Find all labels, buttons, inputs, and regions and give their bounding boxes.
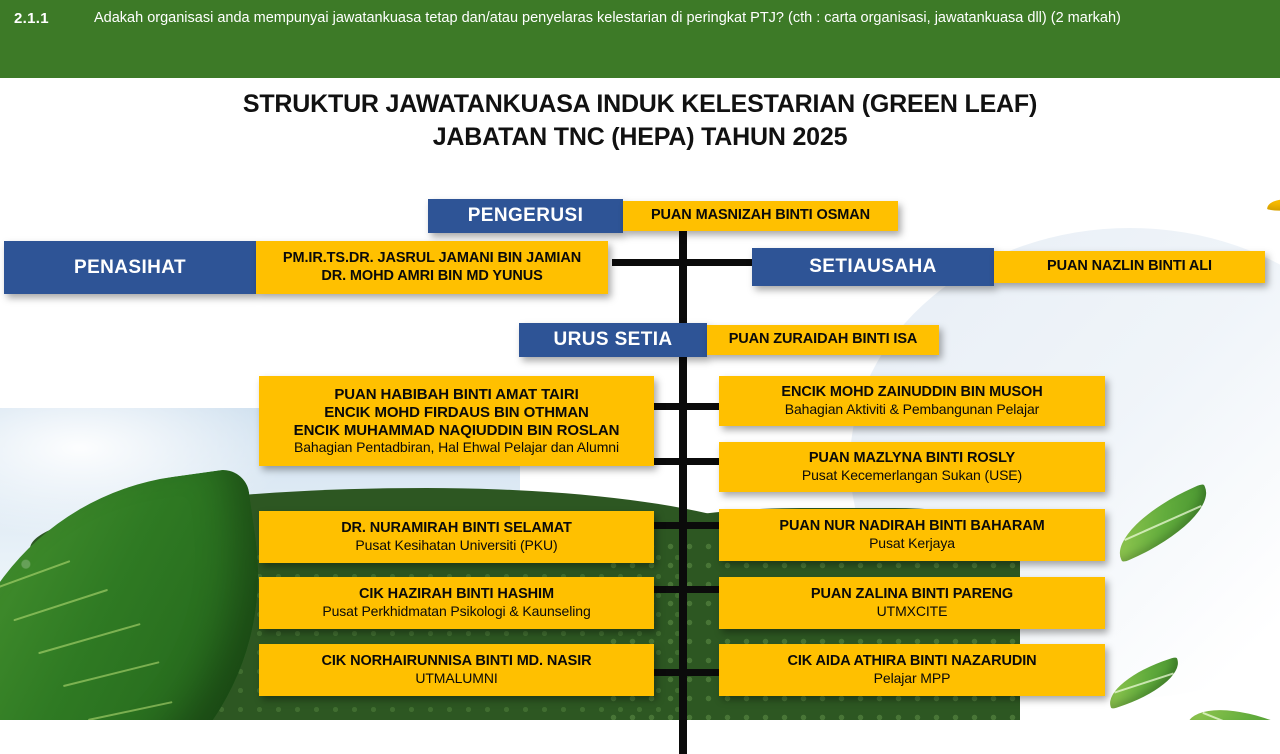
member-box: PUAN ZALINA BINTI PARENG UTMXCITE (719, 577, 1105, 629)
member-name: ENCIK MOHD ZAINUDDIN BIN MUSOH (781, 384, 1042, 401)
node-setiausaha[interactable]: SETIAUSAHA PUAN NAZLIN BINTI ALI (752, 248, 1265, 286)
branch-line-setiausaha (681, 259, 761, 266)
branch-line-penasihat (612, 259, 686, 266)
member-name-3: ENCIK MUHAMMAD NAQIUDDIN BIN ROSLAN (294, 422, 620, 440)
node-urus-setia[interactable]: URUS SETIA PUAN ZURAIDAH BINTI ISA (519, 323, 939, 357)
member-right-2[interactable]: PUAN MAZLYNA BINTI ROSLY Pusat Kecemerla… (719, 442, 1105, 492)
member-name: CIK AIDA ATHIRA BINTI NAZARUDIN (787, 653, 1036, 670)
member-name: PUAN ZALINA BINTI PARENG (811, 586, 1013, 603)
member-box: PUAN HABIBAH BINTI AMAT TAIRI ENCIK MOHD… (259, 376, 654, 466)
urus-setia-name-box: PUAN ZURAIDAH BINTI ISA (707, 325, 939, 355)
penasihat-role-label: PENASIHAT (4, 241, 256, 294)
member-right-4[interactable]: PUAN ZALINA BINTI PARENG UTMXCITE (719, 577, 1105, 629)
member-right-5[interactable]: CIK AIDA ATHIRA BINTI NAZARUDIN Pelajar … (719, 644, 1105, 696)
penasihat-name-1: PM.IR.TS.DR. JASRUL JAMANI BIN JAMIAN (283, 250, 581, 267)
member-name-2: ENCIK MOHD FIRDAUS BIN OTHMAN (324, 404, 589, 422)
member-name: CIK HAZIRAH BINTI HASHIM (359, 586, 554, 603)
setiausaha-role-label: SETIAUSAHA (752, 248, 994, 286)
setiausaha-name-box: PUAN NAZLIN BINTI ALI (994, 251, 1265, 283)
member-left-2[interactable]: DR. NURAMIRAH BINTI SELAMAT Pusat Kesiha… (259, 511, 654, 563)
member-dept: Pusat Kesihatan Universiti (PKU) (355, 537, 557, 554)
question-number: 2.1.1 (14, 9, 94, 29)
pengerusi-role-label: PENGERUSI (428, 199, 623, 233)
pengerusi-name: PUAN MASNIZAH BINTI OSMAN (651, 207, 870, 224)
member-name: PUAN NUR NADIRAH BINTI BAHARAM (779, 518, 1044, 535)
member-dept: Pusat Perkhidmatan Psikologi & Kaunselin… (322, 603, 590, 620)
penasihat-name-box: PM.IR.TS.DR. JASRUL JAMANI BIN JAMIAN DR… (256, 241, 608, 294)
member-box: ENCIK MOHD ZAINUDDIN BIN MUSOH Bahagian … (719, 376, 1105, 426)
setiausaha-name: PUAN NAZLIN BINTI ALI (1047, 258, 1212, 275)
member-dept: Bahagian Aktiviti & Pembangunan Pelajar (785, 401, 1040, 418)
member-name: PUAN HABIBAH BINTI AMAT TAIRI (334, 386, 578, 404)
node-penasihat[interactable]: PENASIHAT PM.IR.TS.DR. JASRUL JAMANI BIN… (4, 241, 608, 294)
org-chart: STRUKTUR JAWATANKUASA INDUK KELESTARIAN … (0, 78, 1280, 720)
member-box: PUAN MAZLYNA BINTI ROSLY Pusat Kecemerla… (719, 442, 1105, 492)
member-name: PUAN MAZLYNA BINTI ROSLY (809, 450, 1015, 467)
member-dept: Pelajar MPP (874, 670, 951, 687)
member-dept: UTMALUMNI (415, 670, 497, 687)
member-left-3[interactable]: CIK HAZIRAH BINTI HASHIM Pusat Perkhidma… (259, 577, 654, 629)
member-dept: Pusat Kerjaya (869, 535, 955, 552)
node-pengerusi[interactable]: PENGERUSI PUAN MASNIZAH BINTI OSMAN (428, 199, 898, 233)
member-box: CIK AIDA ATHIRA BINTI NAZARUDIN Pelajar … (719, 644, 1105, 696)
question-banner: 2.1.1 Adakah organisasi anda mempunyai j… (0, 0, 1280, 78)
member-dept: Bahagian Pentadbiran, Hal Ehwal Pelajar … (294, 439, 619, 456)
member-dept: UTMXCITE (877, 603, 948, 620)
member-left-1[interactable]: PUAN HABIBAH BINTI AMAT TAIRI ENCIK MOHD… (259, 376, 654, 466)
chart-title-line1: STRUKTUR JAWATANKUASA INDUK KELESTARIAN … (0, 88, 1280, 121)
member-box: CIK HAZIRAH BINTI HASHIM Pusat Perkhidma… (259, 577, 654, 629)
member-name: CIK NORHAIRUNNISA BINTI MD. NASIR (321, 653, 591, 670)
member-name: DR. NURAMIRAH BINTI SELAMAT (341, 520, 572, 537)
member-box: CIK NORHAIRUNNISA BINTI MD. NASIR UTMALU… (259, 644, 654, 696)
penasihat-name-2: DR. MOHD AMRI BIN MD YUNUS (321, 268, 542, 285)
urus-setia-name: PUAN ZURAIDAH BINTI ISA (729, 331, 918, 348)
member-right-1[interactable]: ENCIK MOHD ZAINUDDIN BIN MUSOH Bahagian … (719, 376, 1105, 426)
urus-setia-role-label: URUS SETIA (519, 323, 707, 357)
member-box: PUAN NUR NADIRAH BINTI BAHARAM Pusat Ker… (719, 509, 1105, 561)
member-dept: Pusat Kecemerlangan Sukan (USE) (802, 467, 1022, 484)
member-left-4[interactable]: CIK NORHAIRUNNISA BINTI MD. NASIR UTMALU… (259, 644, 654, 696)
pengerusi-name-box: PUAN MASNIZAH BINTI OSMAN (623, 201, 898, 231)
chart-title: STRUKTUR JAWATANKUASA INDUK KELESTARIAN … (0, 88, 1280, 153)
chart-title-line2: JABATAN TNC (HEPA) TAHUN 2025 (0, 121, 1280, 154)
member-box: DR. NURAMIRAH BINTI SELAMAT Pusat Kesiha… (259, 511, 654, 563)
member-right-3[interactable]: PUAN NUR NADIRAH BINTI BAHARAM Pusat Ker… (719, 509, 1105, 561)
question-text: Adakah organisasi anda mempunyai jawatan… (94, 9, 1254, 29)
